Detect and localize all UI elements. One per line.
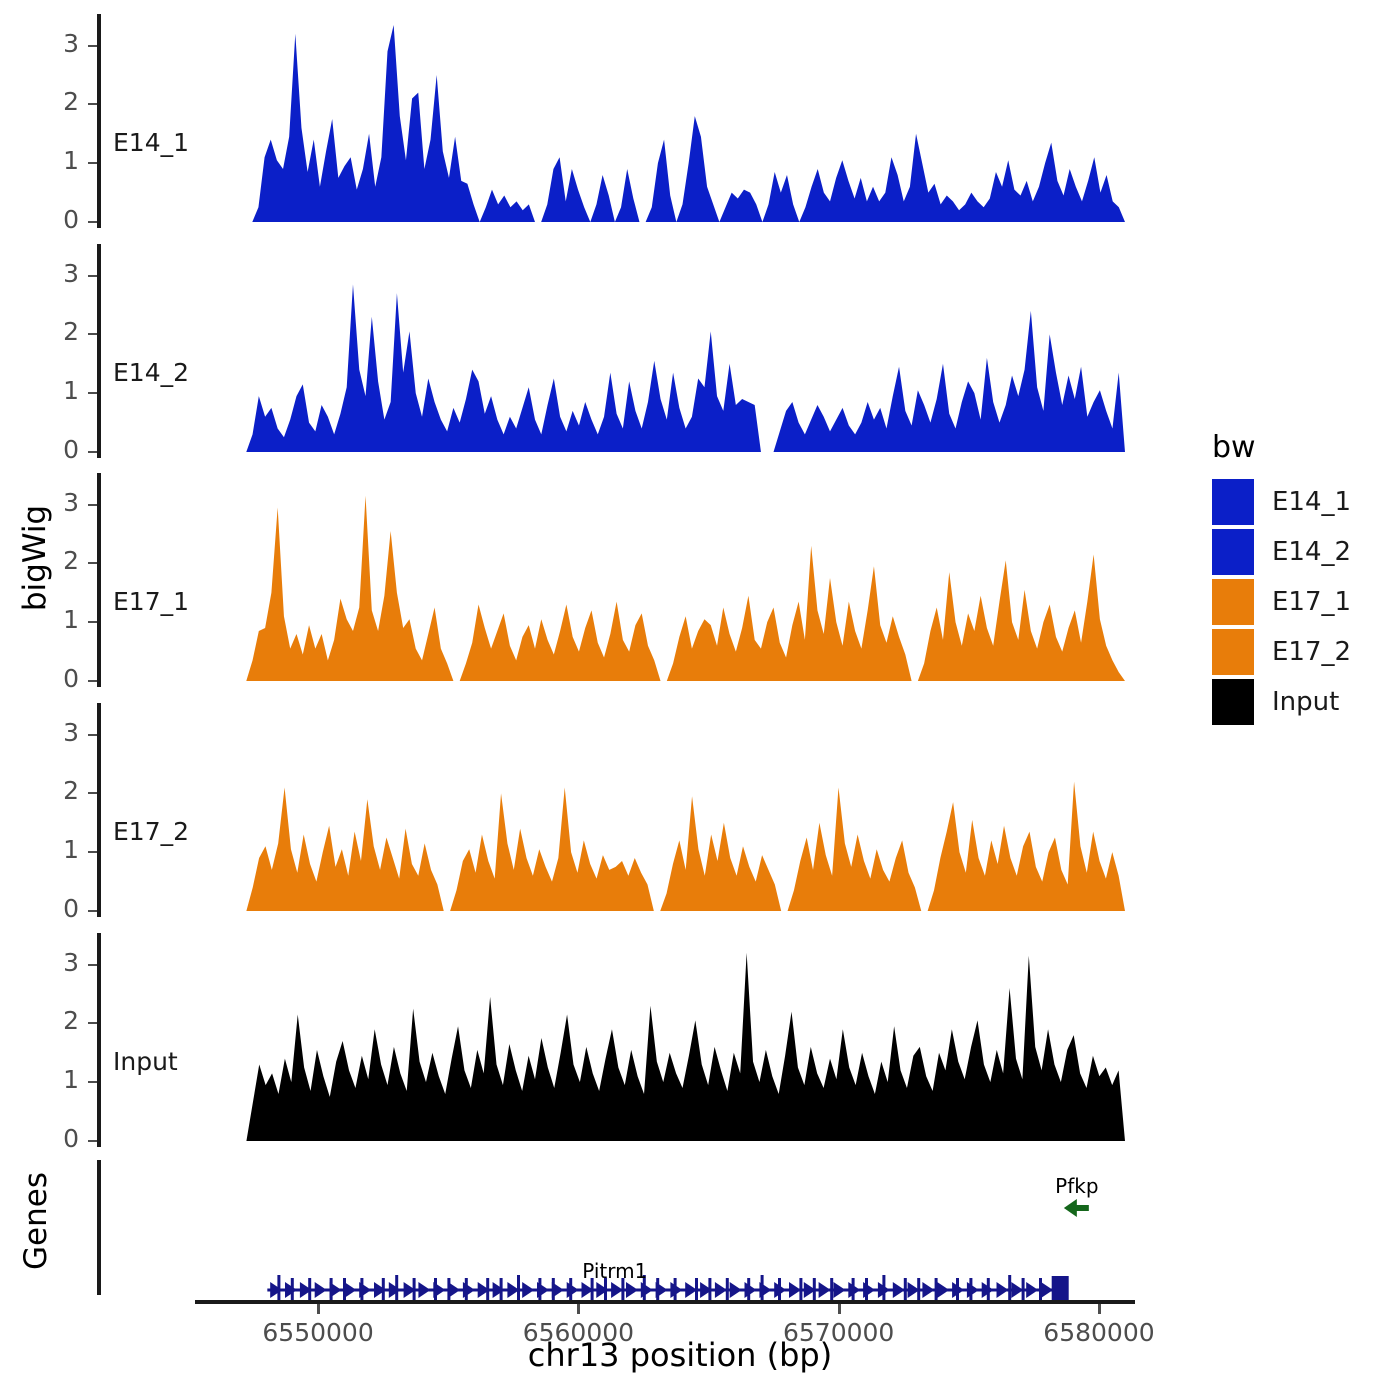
y-tick-mark bbox=[88, 221, 97, 223]
y-axis-line-input bbox=[97, 933, 101, 1147]
panel-label-e17_2: E17_2 bbox=[113, 817, 189, 846]
y-tick-label: 0 bbox=[17, 894, 79, 923]
y-tick-label: 0 bbox=[17, 205, 79, 234]
y-tick-mark bbox=[88, 451, 97, 453]
y-tick-mark bbox=[88, 851, 97, 853]
legend-item-e17_2[interactable]: E17_2 bbox=[1212, 627, 1351, 677]
legend-label: E17_2 bbox=[1272, 637, 1351, 667]
legend-swatch-e14_2 bbox=[1212, 529, 1254, 575]
legend-item-input[interactable]: Input bbox=[1212, 677, 1351, 727]
legend-item-e14_2[interactable]: E14_2 bbox=[1212, 527, 1351, 577]
y-tick-label: 3 bbox=[17, 29, 79, 58]
legend-title: bw bbox=[1212, 430, 1351, 465]
y-tick-mark bbox=[88, 964, 97, 966]
x-axis-line bbox=[195, 1300, 1135, 1304]
y-tick-mark bbox=[88, 734, 97, 736]
y-tick-label: 1 bbox=[17, 146, 79, 175]
y-tick-mark bbox=[88, 103, 97, 105]
x-tick-mark bbox=[838, 1304, 841, 1314]
y-tick-label: 2 bbox=[17, 776, 79, 805]
y-tick-label: 3 bbox=[17, 948, 79, 977]
y-tick-mark bbox=[88, 910, 97, 912]
y-tick-label: 2 bbox=[17, 317, 79, 346]
y-tick-label: 0 bbox=[17, 435, 79, 464]
y-tick-mark bbox=[88, 392, 97, 394]
signal-track-e17_1 bbox=[240, 481, 1125, 681]
panel-label-input: Input bbox=[113, 1047, 178, 1076]
y-tick-mark bbox=[88, 1140, 97, 1142]
legend-label: E17_1 bbox=[1272, 587, 1351, 617]
y-tick-mark bbox=[88, 562, 97, 564]
x-axis-title: chr13 position (bp) bbox=[200, 1336, 1160, 1374]
legend-swatch-e17_1 bbox=[1212, 579, 1254, 625]
legend-items: E14_1E14_2E17_1E17_2Input bbox=[1212, 477, 1351, 727]
y-tick-label: 0 bbox=[17, 1124, 79, 1153]
y-tick-mark bbox=[88, 680, 97, 682]
x-tick-mark bbox=[577, 1304, 580, 1314]
x-tick-mark bbox=[1098, 1304, 1101, 1314]
y-tick-label: 2 bbox=[17, 546, 79, 575]
y-tick-label: 2 bbox=[17, 87, 79, 116]
y-tick-mark bbox=[88, 1081, 97, 1083]
y-tick-mark bbox=[88, 45, 97, 47]
legend-swatch-e14_1 bbox=[1212, 479, 1254, 525]
signal-track-e14_2 bbox=[240, 252, 1125, 452]
panel-label-e14_2: E14_2 bbox=[113, 358, 189, 387]
y-tick-label: 1 bbox=[17, 376, 79, 405]
y-tick-label: 0 bbox=[17, 664, 79, 693]
y-axis-line-e14_1 bbox=[97, 14, 101, 228]
y-tick-mark bbox=[88, 792, 97, 794]
y-tick-label: 3 bbox=[17, 488, 79, 517]
y-tick-label: 3 bbox=[17, 259, 79, 288]
genes-axis-title: Genes bbox=[18, 1151, 54, 1291]
signal-track-input bbox=[240, 941, 1125, 1141]
legend-item-e17_1[interactable]: E17_1 bbox=[1212, 577, 1351, 627]
legend-item-e14_1[interactable]: E14_1 bbox=[1212, 477, 1351, 527]
y-axis-line-e17_1 bbox=[97, 473, 101, 687]
gene-label-pitrm1: Pitrm1 bbox=[545, 1259, 685, 1283]
y-tick-mark bbox=[88, 504, 97, 506]
legend-label: Input bbox=[1272, 687, 1339, 717]
signal-track-e14_1 bbox=[240, 22, 1125, 222]
gene-label-pfkp: Pfkp bbox=[1007, 1174, 1147, 1198]
signal-track-e17_2 bbox=[240, 711, 1125, 911]
y-tick-mark bbox=[88, 333, 97, 335]
y-tick-label: 1 bbox=[17, 605, 79, 634]
legend-swatch-e17_2 bbox=[1212, 629, 1254, 675]
y-tick-mark bbox=[88, 275, 97, 277]
y-axis-line-e14_2 bbox=[97, 244, 101, 458]
y-tick-mark bbox=[88, 621, 97, 623]
legend: bw E14_1E14_2E17_1E17_2Input bbox=[1212, 430, 1351, 727]
x-tick-mark bbox=[317, 1304, 320, 1314]
panel-label-e17_1: E17_1 bbox=[113, 587, 189, 616]
legend-label: E14_1 bbox=[1272, 487, 1351, 517]
genes-axis-line bbox=[97, 1160, 101, 1295]
y-tick-label: 3 bbox=[17, 718, 79, 747]
legend-swatch-input bbox=[1212, 679, 1254, 725]
y-tick-mark bbox=[88, 162, 97, 164]
legend-label: E14_2 bbox=[1272, 537, 1351, 567]
y-tick-label: 2 bbox=[17, 1006, 79, 1035]
y-tick-label: 1 bbox=[17, 835, 79, 864]
panel-label-e14_1: E14_1 bbox=[113, 128, 189, 157]
y-tick-label: 1 bbox=[17, 1065, 79, 1094]
y-axis-line-e17_2 bbox=[97, 703, 101, 917]
y-tick-mark bbox=[88, 1022, 97, 1024]
